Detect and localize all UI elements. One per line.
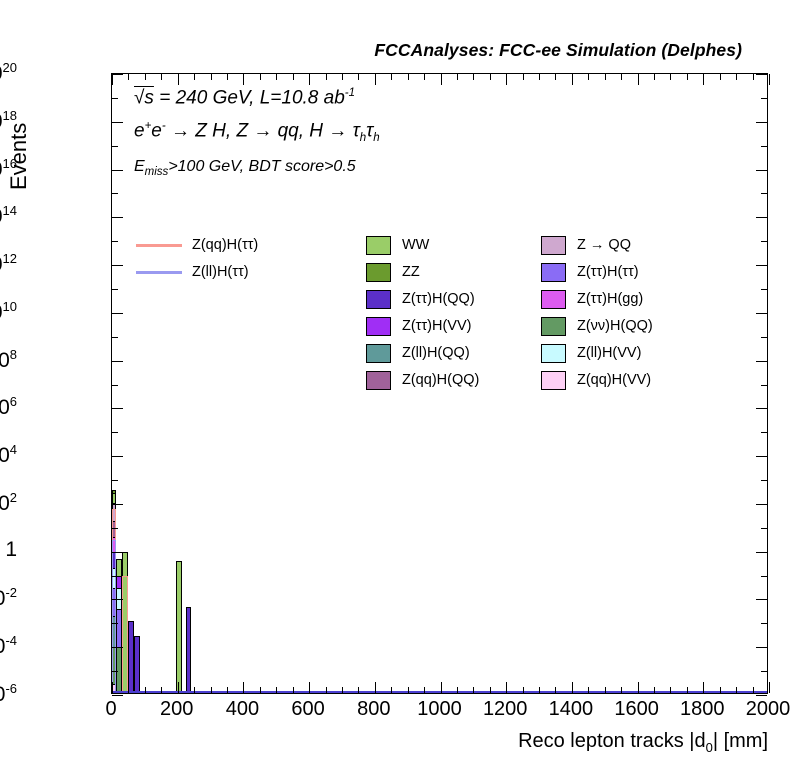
x-tick-top [309,74,310,85]
legend-color-swatch [366,290,391,309]
x-tick [720,687,721,693]
x-tick [243,682,244,693]
x-tick [473,687,474,693]
legend-color-swatch [366,236,391,255]
y-tick-right [756,217,767,218]
x-tick-label: 1000 [417,698,462,721]
y-tick [112,552,123,553]
tau-h-sub-2: h [373,132,379,144]
x-tick [753,687,754,693]
y-tick [112,361,123,362]
x-tick-label: 0 [105,698,116,721]
legend-entry[interactable]: Z(qq)H(ττ) [136,232,258,259]
y-tick-label: 1014 [0,204,17,227]
x-tick [227,687,228,693]
legend-entry[interactable]: Z(qq)H(VV) [541,367,653,394]
y-tick [112,289,118,290]
x-tick-label: 1600 [614,698,659,721]
y-tick [112,408,123,409]
legend-line-swatch [136,244,182,248]
legend-label: WW [402,238,429,253]
x-tick-top [243,74,244,85]
y-tick [112,217,123,218]
annotation-line-1-text: = 240 GeV, L=10.8 ab [154,87,345,108]
y-tick-right [761,385,767,386]
x-tick-top [211,74,212,80]
x-tick [506,682,507,693]
y-tick-right [756,504,767,505]
x-tick [178,682,179,693]
y-tick-right [756,361,767,362]
y-tick-label: 1010 [0,300,17,323]
y-tick-label: 1016 [0,157,17,180]
electron-symbol: e [134,121,145,142]
y-tick-label: 10-2 [0,586,17,609]
x-tick [408,687,409,693]
y-tick [112,623,118,624]
x-tick [670,687,671,693]
legend-label: Z(qq)H(QQ) [402,373,479,388]
y-tick-right [756,408,767,409]
x-tick-top [670,74,671,80]
legend-entry[interactable]: Z(ll)H(VV) [541,340,653,367]
legend-color-swatch [541,344,566,363]
x-tick-top [703,74,704,85]
x-tick-top [490,74,491,80]
legend-label: Z(νν)H(QQ) [577,319,653,334]
y-tick [112,385,118,386]
y-tick-right [761,623,767,624]
annotation-block: √s = 240 GeV, L=10.8 ab-1 e+e- → Z H, Z … [134,88,380,193]
x-tick [621,687,622,693]
y-tick-right [756,122,767,123]
x-tick-top [588,74,589,80]
legend-entry[interactable]: Z(ττ)H(QQ) [366,286,479,313]
x-tick [555,687,556,693]
legend-label: Z(ττ)H(ττ) [577,265,639,280]
y-tick-right [756,695,767,696]
y-tick-right [756,170,767,171]
y-tick-right [756,647,767,648]
x-tick-top [539,74,540,80]
legend-entry[interactable]: Z → QQ [541,232,653,259]
x-tick [457,687,458,693]
y-tick [112,528,118,529]
x-tick-top [260,74,261,80]
legend-entry[interactable]: Z(ττ)H(VV) [366,313,479,340]
x-tick-top [408,74,409,80]
positron-symbol: e [151,121,162,142]
x-tick-top [441,74,442,85]
x-tick-top [194,74,195,80]
y-tick [112,671,118,672]
y-tick-right [761,671,767,672]
legend-label: Z(ll)H(QQ) [402,346,470,361]
x-tick-top [572,74,573,85]
x-tick-label: 1200 [483,698,528,721]
y-tick-label: 10-4 [0,634,17,657]
x-tick [490,687,491,693]
x-tick [391,687,392,693]
x-tick [112,682,113,693]
x-tick-top [555,74,556,80]
y-tick-label: 106 [0,395,17,418]
x-tick-top [605,74,606,80]
x-axis-title: Reco lepton tracks |d0| [mm] [518,730,768,755]
x-tick [424,687,425,693]
y-tick-right [761,193,767,194]
y-tick [112,74,123,75]
cut-description: >100 GeV, BDT score>0.5 [168,158,355,175]
x-tick-top [227,74,228,80]
x-axis-title-unit: | [mm] [713,730,768,752]
x-tick-top [391,74,392,80]
x-tick-top [358,74,359,80]
y-tick [112,480,118,481]
y-tick-label: 102 [0,491,17,514]
y-tick [112,432,118,433]
x-axis-title-sub: 0 [706,740,713,755]
x-tick-label: 1800 [680,698,725,721]
x-tick [276,687,277,693]
x-tick-top [276,74,277,80]
x-tick-top [178,74,179,85]
legend-color-swatch [541,236,566,255]
x-tick-label: 200 [160,698,193,721]
x-tick-top [687,74,688,80]
x-tick [145,687,146,693]
x-tick [194,687,195,693]
x-tick [638,682,639,693]
x-tick-top [638,74,639,85]
legend-label: Z(ll)H(VV) [577,346,641,361]
legend-color-swatch [366,344,391,363]
emiss-symbol: E [134,158,145,175]
legend-label: Z(qq)H(VV) [577,373,651,388]
legend-label: Z(ττ)H(gg) [577,292,643,307]
x-tick-top [342,74,343,80]
legend-entry[interactable]: Z(qq)H(QQ) [366,367,479,394]
x-tick [654,687,655,693]
x-tick [523,687,524,693]
y-tick [112,122,123,123]
annotation-line-2: e+e- → Z H, Z → qq, H → τhτh [134,121,380,145]
y-tick-right [761,241,767,242]
legend-entry[interactable]: Z(ll)H(ττ) [136,259,258,286]
x-tick [161,687,162,693]
y-tick-label: 1 [5,539,17,560]
y-tick-label: 10-6 [0,682,17,705]
x-tick-label: 600 [291,698,324,721]
y-tick-label: 104 [0,443,17,466]
y-tick-right [756,599,767,600]
sqrt-s-symbol: √s [134,87,154,108]
x-tick-top [145,74,146,80]
y-tick-right [761,480,767,481]
x-tick [375,682,376,693]
signal-outline [112,540,116,693]
y-tick-label: 108 [0,348,17,371]
y-tick [112,504,123,505]
y-tick [112,241,118,242]
y-tick-label: 1020 [0,61,17,84]
x-tick-top [523,74,524,80]
y-tick-right [756,74,767,75]
y-tick [112,146,118,147]
x-tick-top [621,74,622,80]
legend-label: Z(ττ)H(QQ) [402,292,475,307]
legend-label: Z(qq)H(ττ) [192,238,258,253]
process-chain: → Z H, Z → qq, H → τ [166,121,360,142]
y-tick-right [761,98,767,99]
histogram-bar [176,561,182,693]
x-tick-top [736,74,737,80]
y-tick [112,647,123,648]
x-tick-label: 800 [357,698,390,721]
x-tick [703,682,704,693]
x-tick-top [293,74,294,80]
y-tick [112,98,118,99]
x-tick [211,687,212,693]
legend-entry[interactable]: Z(ll)H(QQ) [366,340,479,367]
annotation-line-3: Emiss>100 GeV, BDT score>0.5 [134,159,380,179]
annotation-line-1: √s = 240 GeV, L=10.8 ab-1 [134,88,380,107]
x-tick [260,687,261,693]
legend-entry[interactable]: Z(νν)H(QQ) [541,313,653,340]
x-tick-top [753,74,754,80]
x-tick-top [654,74,655,80]
legend-label: Z(ττ)H(VV) [402,319,471,334]
x-tick-top [506,74,507,85]
x-tick-top [769,74,770,85]
y-tick-right [761,528,767,529]
y-tick [112,695,123,696]
legend-color-swatch [541,317,566,336]
y-tick-right [756,552,767,553]
x-tick-top [326,74,327,80]
legend-color-swatch [541,263,566,282]
histogram-bar [134,636,140,693]
x-tick-top [424,74,425,80]
y-tick-right [761,289,767,290]
x-tick [572,682,573,693]
x-tick [293,687,294,693]
legend-right-column: Z → QQZ(ττ)H(ττ)Z(ττ)H(gg)Z(νν)H(QQ)Z(ll… [541,232,653,394]
legend-entry[interactable]: ZZ [366,259,479,286]
y-tick-right [761,576,767,577]
y-tick-right [756,456,767,457]
x-axis-title-main: Reco lepton tracks |d [518,730,706,752]
y-tick [112,265,123,266]
y-tick [112,337,118,338]
x-tick [605,687,606,693]
legend-color-swatch [541,290,566,309]
x-tick [342,687,343,693]
x-tick [588,687,589,693]
x-tick-top [112,74,113,85]
x-tick-top [128,74,129,80]
y-tick-right [756,265,767,266]
legend-signal-column: Z(qq)H(ττ)Z(ll)H(ττ) [136,232,258,286]
x-tick-label: 1400 [549,698,594,721]
y-tick-right [756,313,767,314]
y-tick-label: 1018 [0,109,17,132]
x-tick [687,687,688,693]
y-tick [112,313,123,314]
y-tick-right [761,146,767,147]
signal-outline [122,576,128,693]
x-tick [309,682,310,693]
x-tick [539,687,540,693]
x-tick [441,682,442,693]
x-tick [326,687,327,693]
y-tick-right [761,337,767,338]
x-tick [736,687,737,693]
x-tick [358,687,359,693]
legend-line-swatch [136,271,182,275]
legend-color-swatch [541,371,566,390]
y-tick [112,193,118,194]
legend-label: Z(ll)H(ττ) [192,265,249,280]
x-tick-top [473,74,474,80]
x-tick [128,687,129,693]
y-tick [112,170,123,171]
histogram-bar [186,607,191,693]
legend-label: Z → QQ [577,238,631,253]
y-tick [112,576,118,577]
x-tick-top [720,74,721,80]
x-tick-top [457,74,458,80]
plot-title: FCCAnalyses: FCC-ee Simulation (Delphes) [0,40,742,61]
x-tick-label: 400 [226,698,259,721]
x-tick-label: 2000 [746,698,791,721]
legend-middle-column: WWZZZ(ττ)H(QQ)Z(ττ)H(VV)Z(ll)H(QQ)Z(qq)H… [366,232,479,394]
legend-entry[interactable]: WW [366,232,479,259]
x-tick-top [161,74,162,80]
legend-color-swatch [366,371,391,390]
y-tick [112,456,123,457]
legend-entry[interactable]: Z(ττ)H(gg) [541,286,653,313]
y-tick-label: 1012 [0,252,17,275]
legend-label: ZZ [402,265,420,280]
legend-color-swatch [366,263,391,282]
x-tick [769,682,770,693]
legend-color-swatch [366,317,391,336]
emiss-sub: miss [145,166,169,178]
y-tick-right [761,432,767,433]
legend-entry[interactable]: Z(ττ)H(ττ) [541,259,653,286]
x-tick-top [375,74,376,85]
y-tick [112,599,123,600]
annotation-line-1-exponent: -1 [345,87,355,99]
